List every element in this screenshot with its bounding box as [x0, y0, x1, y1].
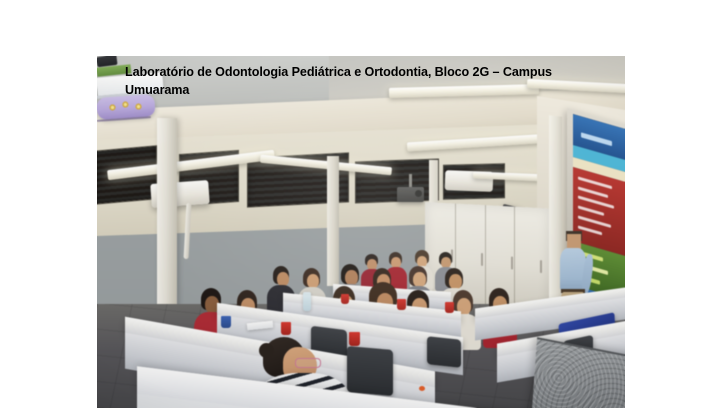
cup: [281, 322, 291, 335]
structural-column: [157, 118, 177, 318]
classroom-photo: [97, 56, 625, 408]
cup: [445, 302, 454, 313]
cup: [221, 316, 231, 328]
structural-column: [327, 156, 339, 286]
figure-caption: Laboratório de Odontologia Pediátrica e …: [125, 63, 595, 99]
eyeglasses: [295, 358, 321, 368]
marker: [419, 386, 425, 391]
projector-lens: [415, 190, 422, 197]
chair: [347, 346, 393, 396]
cup: [341, 294, 349, 304]
student-hair-bun: [259, 343, 274, 358]
cup: [349, 332, 360, 346]
document-page: Laboratório de Odontologia Pediátrica e …: [0, 0, 720, 408]
water-bottle: [303, 292, 311, 311]
cup: [397, 299, 406, 310]
chair: [427, 336, 461, 368]
